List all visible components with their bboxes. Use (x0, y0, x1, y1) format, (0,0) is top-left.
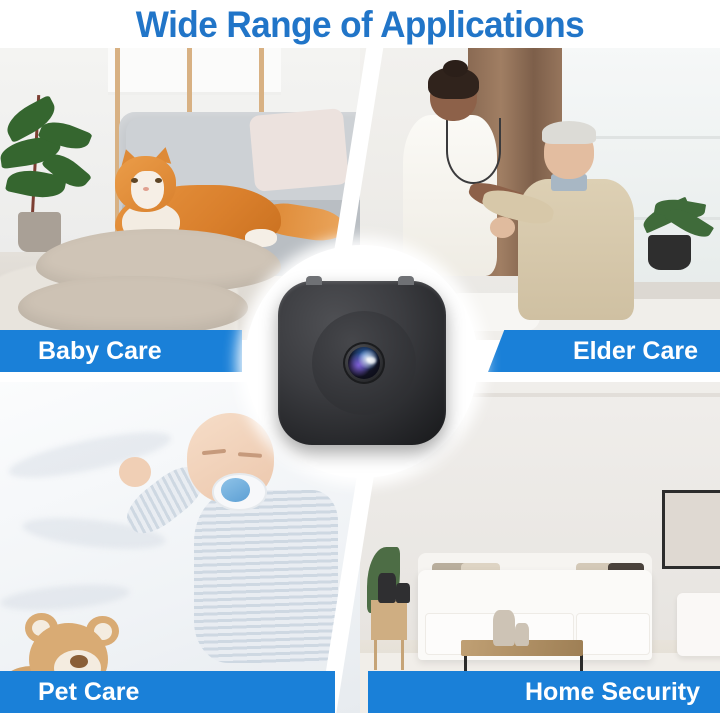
camera-lens-plate (312, 311, 416, 415)
product-spotlight-circle (245, 245, 478, 478)
label-elder-care: Elder Care (488, 330, 720, 372)
wall-art-frame (662, 490, 720, 569)
cat-nose (143, 187, 149, 191)
label-pet-care-text: Pet Care (0, 680, 139, 705)
shelf-unit (108, 48, 281, 95)
ottoman (677, 593, 720, 656)
side-table-leg (401, 640, 404, 670)
mini-camera-body (278, 281, 446, 445)
decor-jar (378, 573, 396, 603)
cat-eye (155, 178, 162, 183)
stethoscope (446, 118, 500, 184)
pacifier-knob (221, 478, 250, 501)
lens-highlight (367, 357, 376, 364)
application-showcase-graphic: Wide Range of Applications (0, 0, 720, 713)
label-elder-care-text: Elder Care (573, 339, 720, 364)
sofa-cushion (249, 108, 349, 192)
side-table (371, 600, 407, 640)
label-baby-care: Baby Care (0, 330, 242, 372)
plant-pot (648, 235, 691, 270)
camera-lens-ring (343, 342, 385, 384)
label-home-security: Home Security (368, 671, 720, 713)
nurse-hair-bun (443, 60, 468, 78)
baby-hand (119, 457, 151, 487)
label-home-security-text: Home Security (525, 680, 720, 705)
cushion-lower (18, 276, 248, 334)
table-vase (515, 623, 529, 646)
label-pet-care: Pet Care (0, 671, 335, 713)
teddy-nose (70, 655, 88, 668)
label-baby-care-text: Baby Care (0, 339, 162, 364)
sofa-seat-cushion (576, 613, 650, 655)
page-title-bar: Wide Range of Applications (0, 0, 720, 48)
elderly-man-hair (542, 121, 596, 144)
page-title: Wide Range of Applications (136, 6, 584, 43)
table-vase (493, 610, 515, 647)
decor-jar (396, 583, 410, 603)
elderly-man-hand (490, 217, 515, 237)
camera-lens-glass (348, 347, 380, 379)
baby-body (194, 490, 338, 663)
camera-button-right[interactable] (398, 276, 414, 285)
side-table-leg (374, 640, 377, 670)
camera-button-left[interactable] (306, 276, 322, 285)
